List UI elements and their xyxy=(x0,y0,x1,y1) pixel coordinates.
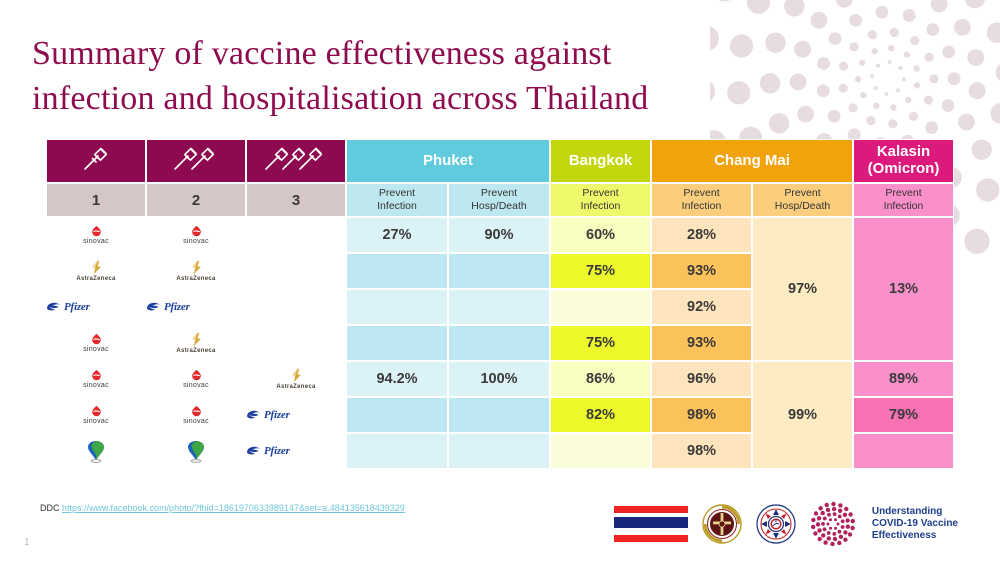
cell-phuket-hosp xyxy=(448,397,550,433)
dose3-logo-cell xyxy=(246,253,346,289)
cell-phuket-infection xyxy=(346,289,448,325)
dose2-logo-cell: AstraZeneca xyxy=(146,325,246,361)
region-header-chang-mai: Chang Mai xyxy=(651,139,853,183)
metric-header-chang-mai-infection: Prevent Infection xyxy=(651,183,752,217)
cell-bangkok-infection xyxy=(550,433,651,469)
vaccine-effectiveness-table: Phuket Bangkok Chang Mai Kalasin (Omicro… xyxy=(46,139,954,469)
dose-count-3: 3 xyxy=(246,183,346,217)
sinovac-logo: sinovac xyxy=(47,405,145,425)
dose3-logo-cell: Pfizer xyxy=(246,433,346,469)
metric-line-1: Prevent xyxy=(652,187,751,200)
metric-header-phuket-hosp: Prevent Hosp/Death xyxy=(448,183,550,217)
dose1-logo-cell: sinovac xyxy=(46,361,146,397)
cell-phuket-infection xyxy=(346,433,448,469)
dose-count-1: 1 xyxy=(46,183,146,217)
metric-header-kalasin-infection: Prevent Infection xyxy=(853,183,954,217)
cell-bangkok-infection xyxy=(550,289,651,325)
sinovac-logo: sinovac xyxy=(147,369,245,389)
metric-header-bangkok-infection: Prevent Infection xyxy=(550,183,651,217)
source-link[interactable]: https://www.facebook.com/photo/?fbid=186… xyxy=(62,503,405,513)
royal-college-seal-icon xyxy=(702,504,742,544)
region-header-kalasin: Kalasin (Omicron) xyxy=(853,139,954,183)
astrazeneca-logo: AstraZeneca xyxy=(147,260,245,282)
dose3-logo-cell: Pfizer xyxy=(246,397,346,433)
two-syringes-icon xyxy=(173,159,219,176)
dose1-logo-cell: sinovac xyxy=(46,217,146,253)
pfizer-logo: Pfizer xyxy=(247,409,345,422)
cell-kalasin-merged-top: 13% xyxy=(853,217,954,361)
metric-line-2: Infection xyxy=(652,200,751,213)
cell-phuket-infection xyxy=(346,397,448,433)
dose1-logo-cell xyxy=(46,433,146,469)
cell-chang-mai-infection: 93% xyxy=(651,253,752,289)
cell-phuket-hosp xyxy=(448,253,550,289)
metric-line-2: Hosp/Death xyxy=(753,200,852,213)
thai-flag-icon xyxy=(614,502,688,546)
cell-chang-mai-hosp-merged-bottom: 99% xyxy=(752,361,853,469)
cell-kalasin-infection: 79% xyxy=(853,397,954,433)
cell-kalasin-infection xyxy=(853,433,954,469)
dose-header-1 xyxy=(46,139,146,183)
dose3-logo-cell xyxy=(246,289,346,325)
cell-phuket-infection xyxy=(346,325,448,361)
cell-bangkok-infection: 75% xyxy=(550,325,651,361)
metric-header-chang-mai-hosp: Prevent Hosp/Death xyxy=(752,183,853,217)
cell-bangkok-infection: 82% xyxy=(550,397,651,433)
dose-header-3 xyxy=(246,139,346,183)
source-prefix: DDC xyxy=(40,503,60,513)
dose1-logo-cell: sinovac xyxy=(46,397,146,433)
dose3-logo-cell xyxy=(246,325,346,361)
pfizer-logo: Pfizer xyxy=(47,301,145,314)
dose2-logo-cell: sinovac xyxy=(146,217,246,253)
ucve-line-2: COVID-19 Vaccine xyxy=(872,518,958,530)
page-title-line-1: Summary of vaccine effectiveness against xyxy=(32,32,732,77)
dose3-logo-cell: AstraZeneca xyxy=(246,361,346,397)
cell-phuket-infection xyxy=(346,253,448,289)
sinovac-logo: sinovac xyxy=(47,333,145,353)
three-syringes-icon xyxy=(265,159,327,176)
metric-line-2: Infection xyxy=(347,200,447,213)
table-row: sinovac sinovac AstraZeneca 94.2% 100% 8… xyxy=(46,361,954,397)
one-syringe-icon xyxy=(81,159,111,176)
cell-phuket-hosp: 90% xyxy=(448,217,550,253)
astrazeneca-logo: AstraZeneca xyxy=(147,332,245,354)
dose3-logo-cell xyxy=(246,217,346,253)
metric-line-2: Hosp/Death xyxy=(449,200,549,213)
region-header-kalasin-line-2: (Omicron) xyxy=(854,161,953,178)
cell-phuket-hosp xyxy=(448,325,550,361)
cell-bangkok-infection: 60% xyxy=(550,217,651,253)
dose1-logo-cell: sinovac xyxy=(46,325,146,361)
metric-line-1: Prevent xyxy=(854,187,953,200)
sinopharm-logo xyxy=(47,439,145,463)
sinovac-logo: sinovac xyxy=(47,225,145,245)
pfizer-logo: Pfizer xyxy=(147,301,245,314)
region-header-bangkok: Bangkok xyxy=(550,139,651,183)
pfizer-logo: Pfizer xyxy=(247,445,345,458)
cell-chang-mai-infection: 96% xyxy=(651,361,752,397)
astrazeneca-logo: AstraZeneca xyxy=(247,368,345,390)
dose2-logo-cell: sinovac xyxy=(146,361,246,397)
cell-phuket-hosp xyxy=(448,289,550,325)
region-header-phuket: Phuket xyxy=(346,139,550,183)
source-citation: DDC https://www.facebook.com/photo/?fbid… xyxy=(40,503,405,513)
sinovac-logo: sinovac xyxy=(147,225,245,245)
cell-chang-mai-infection: 98% xyxy=(651,433,752,469)
dose-header-2 xyxy=(146,139,246,183)
cell-phuket-infection: 94.2% xyxy=(346,361,448,397)
dose1-logo-cell: Pfizer xyxy=(46,289,146,325)
ucve-virus-logo-icon xyxy=(810,501,856,547)
cell-chang-mai-infection: 98% xyxy=(651,397,752,433)
metric-line-1: Prevent xyxy=(449,187,549,200)
sinovac-logo: sinovac xyxy=(147,405,245,425)
ucve-brand-text: Understanding COVID-19 Vaccine Effective… xyxy=(872,506,958,543)
sinopharm-logo xyxy=(147,439,245,463)
cell-kalasin-infection: 89% xyxy=(853,361,954,397)
metric-line-1: Prevent xyxy=(347,187,447,200)
metric-line-2: Infection xyxy=(854,200,953,213)
table-header-regions: Phuket Bangkok Chang Mai Kalasin (Omicro… xyxy=(46,139,954,183)
table-header-metrics: 1 2 3 Prevent Infection Prevent Hosp/Dea… xyxy=(46,183,954,217)
metric-line-1: Prevent xyxy=(753,187,852,200)
sinovac-logo: sinovac xyxy=(47,369,145,389)
cell-bangkok-infection: 75% xyxy=(550,253,651,289)
astrazeneca-logo: AstraZeneca xyxy=(47,260,145,282)
dose1-logo-cell: AstraZeneca xyxy=(46,253,146,289)
metric-header-phuket-infection: Prevent Infection xyxy=(346,183,448,217)
cell-chang-mai-infection: 93% xyxy=(651,325,752,361)
cell-chang-mai-infection: 92% xyxy=(651,289,752,325)
cell-bangkok-infection: 86% xyxy=(550,361,651,397)
dose2-logo-cell: AstraZeneca xyxy=(146,253,246,289)
page-title: Summary of vaccine effectiveness against… xyxy=(32,32,732,122)
cell-chang-mai-hosp-merged-top: 97% xyxy=(752,217,853,361)
table-row: sinovac sinovac 27% 90% 60% 28% 97% 13% xyxy=(46,217,954,253)
dose2-logo-cell xyxy=(146,433,246,469)
metric-line-1: Prevent xyxy=(551,187,650,200)
metric-line-2: Infection xyxy=(551,200,650,213)
dose2-logo-cell: Pfizer xyxy=(146,289,246,325)
dose2-logo-cell: sinovac xyxy=(146,397,246,433)
ministry-seal-icon xyxy=(756,504,796,544)
footer-logo-strip: Understanding COVID-19 Vaccine Effective… xyxy=(614,498,958,550)
cell-chang-mai-infection: 28% xyxy=(651,217,752,253)
dose-count-2: 2 xyxy=(146,183,246,217)
region-header-kalasin-line-1: Kalasin xyxy=(854,144,953,161)
ucve-line-3: Effectiveness xyxy=(872,530,958,542)
cell-phuket-hosp: 100% xyxy=(448,361,550,397)
cell-phuket-infection: 27% xyxy=(346,217,448,253)
page-number: 1 xyxy=(24,537,30,548)
cell-phuket-hosp xyxy=(448,433,550,469)
ucve-line-1: Understanding xyxy=(872,506,958,518)
page-title-line-2: infection and hospitalisation across Tha… xyxy=(32,77,732,122)
